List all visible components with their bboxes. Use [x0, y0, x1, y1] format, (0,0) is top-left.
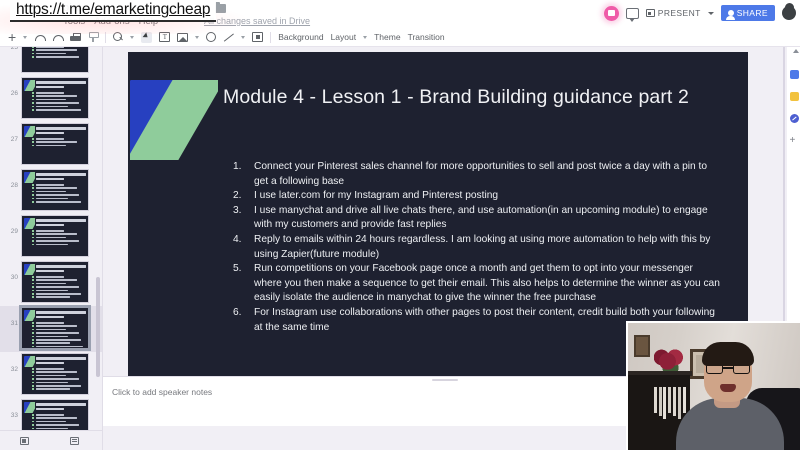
redo-icon[interactable] — [52, 33, 63, 42]
thumbnail-title-line — [36, 265, 86, 268]
thumbnail-title-line — [36, 127, 86, 130]
select-cursor-icon[interactable] — [141, 32, 152, 43]
thumbnail-body-line — [36, 388, 70, 390]
filmstrip-thumbnail[interactable] — [21, 169, 89, 211]
url-banner: https://t.me/emarketingcheap — [10, 0, 216, 22]
thumbnail-body-line — [36, 417, 77, 419]
slide-bullet-5: 5.Run competitions on your Facebook page… — [228, 262, 723, 306]
slide-bullet-number: 5. — [228, 262, 254, 306]
thumbnail-bullet-marker — [32, 194, 34, 196]
thumbnail-body-line — [36, 141, 77, 143]
thumbnail-bullet-marker — [32, 378, 34, 380]
thumbnail-title-line — [36, 219, 86, 222]
thumbnail-title-line-2 — [36, 362, 64, 365]
filmstrip-footer — [0, 430, 103, 450]
webcam-small-frame — [634, 335, 650, 357]
thumbnail-bullet-marker — [32, 95, 34, 97]
filmstrip-slide-number: 25 — [4, 47, 18, 51]
share-button[interactable]: SHARE — [721, 5, 775, 21]
meet-badge-icon[interactable] — [604, 6, 619, 21]
thumbnail-bullet-marker — [32, 191, 34, 193]
slides-editor-window: oint Tools Add-ons Help All changes save… — [0, 0, 800, 450]
filmstrip-thumbnail[interactable] — [21, 47, 89, 73]
slide-bullet-text: I use manychat and drive all live chats … — [254, 204, 723, 233]
filmstrip-slide-number: 26 — [4, 90, 18, 97]
thumbnail-bullet-marker — [32, 99, 34, 101]
thumbnail-decorative-shape — [24, 218, 35, 229]
thumbnail-bullet-marker — [32, 346, 34, 348]
filmstrip-slide-number: 28 — [4, 182, 18, 189]
thumbnail-bullet-marker — [32, 375, 34, 377]
thumbnail-bullet-marker — [32, 283, 34, 285]
filmstrip-view-list-icon[interactable] — [70, 437, 79, 445]
thumbnail-title-line — [36, 311, 86, 314]
filmstrip-slide-31[interactable]: 31 — [0, 306, 103, 352]
thumbnail-bullet-marker — [32, 286, 34, 288]
thumbnail-bullet-marker — [32, 414, 34, 416]
thumbnail-title-line-2 — [36, 178, 64, 181]
filmstrip-slide-number: 31 — [4, 320, 18, 327]
slide-bullet-number: 6. — [228, 306, 254, 335]
thumbnail-body-line — [36, 187, 77, 189]
thumbnail-bullet-marker — [32, 421, 34, 423]
thumbnail-bullet-marker — [32, 329, 34, 331]
thumbnail-bullet-marker — [32, 339, 34, 341]
slide-bullet-1: 1.Connect your Pinterest sales channel f… — [228, 160, 723, 189]
thumbnail-title-line-2 — [36, 270, 64, 273]
thumbnail-decorative-shape — [24, 356, 35, 367]
thumbnail-body-line — [36, 145, 66, 147]
thumbnail-body-line — [36, 342, 70, 344]
filmstrip-slide-27[interactable]: 27 — [0, 122, 103, 168]
thumbnail-bullet-marker — [32, 244, 34, 246]
line-icon[interactable] — [223, 32, 234, 42]
filmstrip-thumbnail[interactable] — [21, 215, 89, 257]
webcam-overlay — [626, 321, 800, 450]
filmstrip-slide-29[interactable]: 29 — [0, 214, 103, 260]
thumbnail-body-line — [36, 336, 68, 338]
layout-button[interactable]: Layout — [331, 32, 357, 42]
thumbnail-bullet-marker — [32, 371, 34, 373]
thumbnail-title-line-2 — [36, 316, 64, 319]
thumbnail-body-line — [36, 329, 66, 331]
thumbnail-body-line — [36, 92, 64, 94]
thumbnail-body-line — [36, 191, 66, 193]
present-dropdown-caret-icon[interactable] — [708, 12, 714, 15]
thumbnail-bullet-marker — [32, 276, 34, 278]
thumbnail-body-line — [36, 109, 81, 111]
thumbnail-body-line — [36, 339, 81, 341]
thumbnail-body-line — [36, 286, 79, 288]
thumbnail-decorative-shape — [24, 80, 35, 91]
thumbnail-body-line — [36, 424, 79, 426]
thumbnail-body-line — [36, 99, 66, 101]
filmstrip-thumbnail[interactable] — [21, 261, 89, 303]
thumbnail-body-line — [36, 198, 68, 200]
thumbnail-body-line — [36, 233, 77, 235]
toolbar-divider-2 — [270, 32, 271, 43]
url-banner-text: https://t.me/emarketingcheap — [16, 1, 210, 19]
filmstrip-scrollbar[interactable] — [96, 277, 100, 377]
undo-icon[interactable] — [34, 33, 45, 42]
thumbnail-body-line — [36, 244, 68, 246]
thumbnail-bullet-marker — [32, 198, 34, 200]
thumbnail-body-line — [36, 382, 68, 384]
filmstrip-slide-number: 32 — [4, 366, 18, 373]
thumbnail-bullet-marker — [32, 424, 34, 426]
toolbar: + Background Layout Theme Transition — [0, 28, 800, 47]
save-status-link[interactable]: All changes saved in Drive — [204, 16, 310, 26]
slide-bullet-text: Run competitions on your Facebook page o… — [254, 262, 723, 306]
avatar[interactable] — [782, 6, 796, 20]
speaker-notes-placeholder: Click to add speaker notes — [112, 387, 212, 397]
present-label: PRESENT — [658, 8, 701, 18]
thumbnail-body-line — [36, 293, 81, 295]
insert-image-icon[interactable] — [177, 33, 188, 42]
filmstrip-slide-25[interactable]: 25 — [0, 47, 103, 76]
thumbnail-body-line — [36, 378, 79, 380]
thumbnail-title-line-2 — [36, 132, 64, 135]
thumbnail-bullet-marker — [32, 230, 34, 232]
thumbnail-bullet-marker — [32, 336, 34, 338]
thumbnail-body-line — [36, 53, 66, 55]
transition-button[interactable]: Transition — [408, 32, 445, 42]
keep-icon[interactable] — [790, 92, 799, 101]
thumbnail-bullet-marker — [32, 233, 34, 235]
thumbnail-body-line — [36, 368, 64, 370]
thumbnail-bullet-marker — [32, 293, 34, 295]
filmstrip-slide-28[interactable]: 28 — [0, 168, 103, 214]
filmstrip-slide-number: 29 — [4, 228, 18, 235]
thumbnail-body-line — [36, 414, 64, 416]
thumbnail-bullet-marker — [32, 102, 34, 104]
thumbnail-body-line — [36, 290, 68, 292]
text-box-icon[interactable] — [159, 32, 170, 42]
present-button[interactable]: PRESENT — [646, 8, 701, 18]
filmstrip-slide-32[interactable]: 32 — [0, 352, 103, 398]
filmstrip-slide-26[interactable]: 26 — [0, 76, 103, 122]
shape-icon[interactable] — [206, 32, 216, 42]
slide-bullet-2: 2.I use later.com for my Instagram and P… — [228, 189, 723, 204]
thumbnail-bullet-marker — [32, 279, 34, 281]
zoom-dropdown-icon[interactable] — [130, 36, 134, 39]
notes-resize-handle[interactable] — [432, 379, 458, 381]
thumbnail-bullet-marker — [32, 138, 34, 140]
webcam-person-mouth — [720, 384, 736, 392]
line-dropdown-icon[interactable] — [241, 36, 245, 39]
thumbnail-bullet-marker — [32, 47, 34, 48]
slide-bullet-text: Reply to emails within 24 hours regardle… — [254, 233, 723, 262]
thumbnail-title-line — [36, 173, 86, 176]
thumbnail-decorative-shape — [24, 310, 35, 321]
new-slide-icon[interactable]: + — [8, 32, 16, 42]
thumbnail-title-line — [36, 81, 86, 84]
theme-button[interactable]: Theme — [374, 32, 400, 42]
filmstrip-thumbnail[interactable] — [21, 77, 89, 119]
thumbnail-body-line — [36, 385, 81, 387]
slide-bullet-text: I use later.com for my Instagram and Pin… — [254, 189, 723, 204]
thumbnail-bullet-marker — [32, 109, 34, 111]
filmstrip-slide-number: 27 — [4, 136, 18, 143]
thumbnail-body-line — [36, 421, 66, 423]
thumbnail-bullet-marker — [32, 145, 34, 147]
thumbnail-bullet-marker — [32, 417, 34, 419]
add-on-plus-icon[interactable]: + — [790, 136, 799, 145]
thumbnail-title-line — [36, 403, 86, 406]
thumbnail-body-line — [36, 138, 64, 140]
present-icon — [646, 9, 655, 17]
thumbnail-bullet-marker — [32, 342, 34, 344]
thumbnail-body-line — [36, 325, 77, 327]
filmstrip-slide-number: 33 — [4, 412, 18, 419]
print-icon[interactable] — [70, 33, 81, 42]
thumbnail-bullet-marker — [32, 106, 34, 108]
thumbnail-decorative-shape — [24, 172, 35, 183]
slide-title[interactable]: Module 4 - Lesson 1 - Brand Building gui… — [223, 85, 713, 110]
paint-format-icon[interactable] — [88, 32, 98, 42]
new-slide-dropdown-icon[interactable] — [23, 36, 27, 39]
thumbnail-body-line — [36, 322, 64, 324]
slide-filmstrip[interactable]: 252627282930313233 — [0, 47, 103, 450]
thumbnail-body-line — [36, 237, 66, 239]
thumbnail-body-line — [36, 95, 77, 97]
thumbnail-body-line — [36, 56, 79, 58]
thumbnail-bullet-marker — [32, 322, 34, 324]
thumbnail-body-line — [36, 346, 83, 348]
calendar-icon[interactable] — [790, 70, 799, 79]
thumbnail-body-line — [36, 375, 66, 377]
thumbnail-bullet-marker — [32, 388, 34, 390]
image-dropdown-icon[interactable] — [195, 36, 199, 39]
thumbnail-bullet-marker — [32, 385, 34, 387]
thumbnail-bullet-marker — [32, 56, 34, 58]
comment-icon[interactable] — [626, 8, 639, 19]
thumbnail-body-line — [36, 371, 77, 373]
slide-bullet-4: 4.Reply to emails within 24 hours regard… — [228, 233, 723, 262]
webcam-books — [654, 387, 688, 419]
thumbnail-body-line — [36, 230, 64, 232]
thumbnail-title-line — [36, 357, 86, 360]
zoom-icon[interactable] — [113, 32, 123, 42]
thumbnail-bullet-marker — [32, 382, 34, 384]
toolbar-divider — [105, 32, 106, 43]
thumbnail-bullet-marker — [32, 240, 34, 242]
thumbnail-body-line — [36, 194, 79, 196]
thumbnail-decorative-shape — [24, 402, 35, 413]
thumbnail-title-line-2 — [36, 408, 64, 411]
filmstrip-slide-number: 30 — [4, 274, 18, 281]
slide-bullet-number: 1. — [228, 160, 254, 189]
thumbnail-body-line — [36, 49, 77, 51]
insert-comment-icon[interactable] — [252, 32, 263, 42]
thumbnail-title-line-2 — [36, 224, 64, 227]
thumbnail-body-line — [36, 240, 79, 242]
thumbnail-bullet-marker — [32, 53, 34, 55]
person-add-icon — [728, 10, 734, 16]
thumbnail-bullet-marker — [32, 237, 34, 239]
thumbnail-bullet-marker — [32, 201, 34, 203]
side-panel-collapse-icon[interactable] — [793, 49, 799, 53]
slide-bullet-3: 3.I use manychat and drive all live chat… — [228, 204, 723, 233]
thumbnail-body-line — [36, 184, 64, 186]
thumbnail-bullet-marker — [32, 92, 34, 94]
filmstrip-thumbnail[interactable] — [21, 123, 89, 165]
thumbnail-decorative-shape — [24, 264, 35, 275]
thumbnail-bullet-marker — [32, 49, 34, 51]
thumbnail-body-line — [36, 332, 79, 334]
thumbnail-bullet-marker — [32, 290, 34, 292]
filmstrip-thumbnail[interactable] — [21, 353, 89, 395]
webcam-flowers — [654, 347, 684, 373]
thumbnail-bullet-marker — [32, 332, 34, 334]
tasks-icon[interactable] — [790, 114, 799, 123]
slide-body-list[interactable]: 1.Connect your Pinterest sales channel f… — [228, 160, 723, 335]
folder-icon[interactable] — [215, 4, 226, 13]
filmstrip-slide-30[interactable]: 30 — [0, 260, 103, 306]
filmstrip-thumbnail[interactable] — [21, 307, 89, 349]
thumbnail-body-line — [36, 102, 79, 104]
slide-bullet-text: Connect your Pinterest sales channel for… — [254, 160, 723, 189]
slide-bullet-number: 4. — [228, 233, 254, 262]
thumbnail-title-line-2 — [36, 86, 64, 89]
thumbnail-bullet-marker — [32, 187, 34, 189]
thumbnail-decorative-shape — [24, 126, 35, 137]
thumbnail-bullet-marker — [32, 184, 34, 186]
thumbnail-body-line — [36, 279, 77, 281]
background-button[interactable]: Background — [278, 32, 323, 42]
slide-bullet-number: 3. — [228, 204, 254, 233]
thumbnail-body-line — [36, 283, 66, 285]
layout-dropdown-icon[interactable] — [363, 36, 367, 39]
thumbnail-body-line — [36, 296, 70, 298]
filmstrip-view-grid-icon[interactable] — [20, 437, 29, 445]
thumbnail-body-line — [36, 47, 64, 48]
thumbnail-body-line — [36, 106, 68, 108]
decorative-shape — [130, 80, 218, 160]
slide-bullet-number: 2. — [228, 189, 254, 204]
thumbnail-bullet-marker — [32, 141, 34, 143]
thumbnail-bullet-marker — [32, 368, 34, 370]
thumbnail-body-line — [36, 201, 81, 203]
thumbnail-bullet-marker — [32, 428, 34, 430]
thumbnail-bullet-marker — [32, 296, 34, 298]
header-actions: PRESENT SHARE — [604, 3, 796, 23]
thumbnail-body-line — [36, 428, 68, 430]
thumbnail-body-line — [36, 276, 64, 278]
share-label: SHARE — [737, 8, 768, 18]
thumbnail-bullet-marker — [32, 325, 34, 327]
webcam-person-hair — [702, 342, 754, 366]
